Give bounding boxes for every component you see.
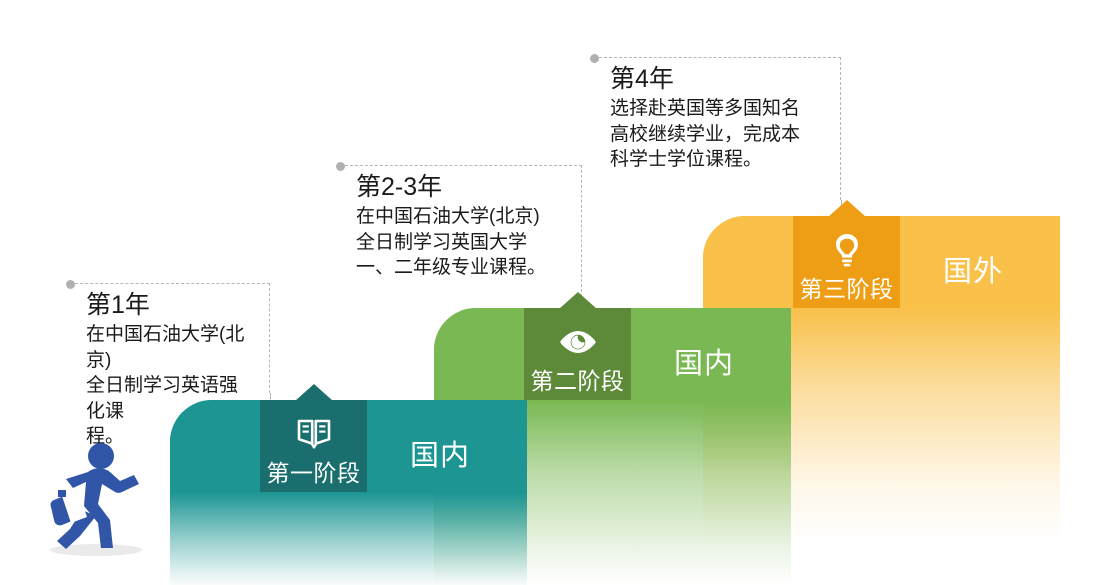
stage-label-stage-2: 第二阶段 [531, 369, 625, 393]
open-book-icon [294, 414, 334, 454]
callout-line: 高校继续学业，完成本 [610, 122, 826, 147]
stage-label-stage-3: 第三阶段 [800, 277, 894, 301]
step-block-stage-1[interactable]: 第一阶段 国内 [170, 400, 527, 585]
infographic-canvas: 第三阶段 国外 第二阶段 国内 [0, 0, 1097, 585]
callout-line: 选择赴英国等多国知名 [610, 96, 826, 121]
region-label-stage-2: 国内 [674, 340, 734, 382]
callout-year-4: 第4年 选择赴英国等多国知名 高校继续学业，完成本 科学士学位课程。 [594, 57, 841, 200]
callout-title: 第1年 [86, 290, 255, 321]
region-label-stage-3: 国外 [943, 248, 1003, 290]
callout-body: 选择赴英国等多国知名 高校继续学业，完成本 科学士学位课程。 [610, 96, 826, 172]
eye-icon [558, 322, 598, 362]
callout-title: 第4年 [610, 64, 826, 95]
callout-body: 在中国石油大学(北京) 全日制学习英国大学 一、二年级专业课程。 [356, 204, 567, 280]
running-businessman-icon [18, 430, 168, 560]
callout-line: 在中国石油大学(北京) [86, 322, 255, 373]
region-label-stage-1: 国内 [410, 432, 470, 474]
callout-year-2-3: 第2-3年 在中国石油大学(北京) 全日制学习英国大学 一、二年级专业课程。 [340, 165, 582, 297]
lightbulb-icon [827, 230, 867, 270]
panel-notch-icon [828, 200, 866, 217]
callout-dot-icon [336, 162, 345, 171]
panel-notch-icon [559, 292, 597, 309]
stage-panel-stage-1[interactable]: 第一阶段 [260, 400, 367, 492]
callout-line: 科学士学位课程。 [610, 147, 826, 172]
panel-notch-icon [295, 384, 333, 401]
callout-year-1: 第1年 在中国石油大学(北京) 全日制学习英语强化课 程。 [70, 283, 270, 393]
stage-panel-stage-3[interactable]: 第三阶段 [793, 216, 900, 308]
stage-label-stage-1: 第一阶段 [267, 461, 361, 485]
callout-dot-icon [66, 280, 75, 289]
callout-title: 第2-3年 [356, 172, 567, 203]
callout-line: 一、二年级专业课程。 [356, 255, 567, 280]
stage-panel-stage-2[interactable]: 第二阶段 [524, 308, 631, 400]
callout-line: 全日制学习英国大学 [356, 230, 567, 255]
callout-line: 在中国石油大学(北京) [356, 204, 567, 229]
callout-dot-icon [590, 54, 599, 63]
